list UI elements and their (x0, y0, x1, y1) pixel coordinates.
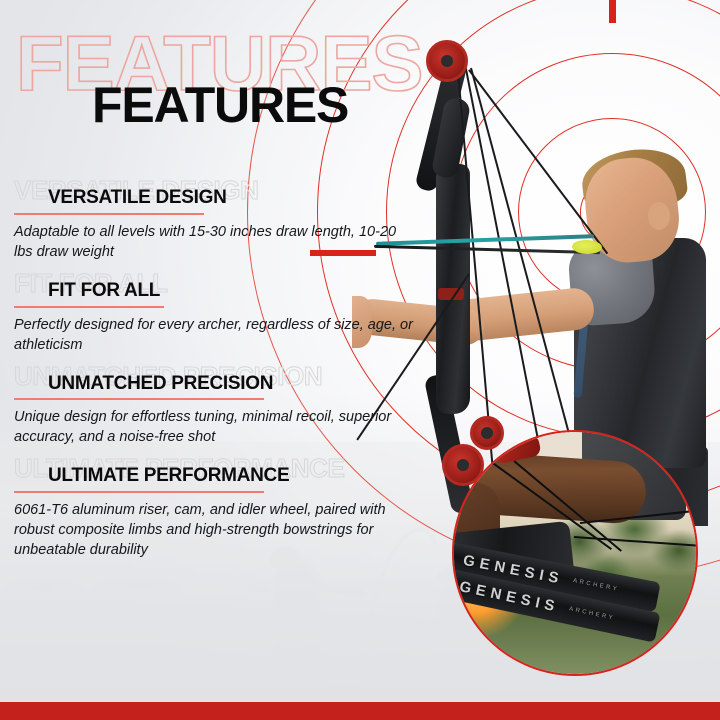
feature-body: 6061-T6 aluminum riser, cam, and idler w… (14, 500, 416, 560)
feature-list: VERSATILE DESIGN VERSATILE DESIGN Adapta… (0, 186, 430, 577)
feature-item-unmatched-precision: UNMATCHED PRECISION UNMATCHED PRECISION … (0, 372, 430, 448)
inset-closeup-photo: GENESIS ARCHERY GENESIS ARCHERY (452, 430, 698, 676)
feature-heading: ULTIMATE PERFORMANCE (48, 464, 289, 491)
bottom-accent-bar (0, 702, 720, 720)
target-tick-top (609, 0, 616, 23)
page-title-block: FEATURES FEATURES (0, 24, 560, 130)
feature-heading: UNMATCHED PRECISION (48, 372, 273, 399)
feature-heading: VERSATILE DESIGN (48, 186, 227, 213)
page-title: FEATURES (92, 80, 348, 130)
limb-brand-sub-label: ARCHERY (573, 578, 620, 593)
feature-body: Adaptable to all levels with 15-30 inche… (14, 222, 414, 262)
feature-heading: FIT FOR ALL (48, 279, 160, 306)
feature-underline (14, 306, 164, 308)
feature-underline (14, 398, 264, 400)
feature-item-ultimate-performance: ULTIMATE PERFORMANCE ULTIMATE PERFORMANC… (0, 464, 430, 560)
feature-underline (14, 491, 264, 493)
feature-item-fit-for-all: FIT FOR ALL FIT FOR ALL Perfectly design… (0, 279, 430, 355)
infographic-canvas: GENESIS ARCHERY GENESIS ARCHERY FEATURES… (0, 0, 720, 720)
archer-ear (648, 202, 670, 230)
feature-underline (14, 213, 204, 215)
feature-body: Perfectly designed for every archer, reg… (14, 315, 414, 355)
limb-brand-sub-label-2: ARCHERY (568, 606, 615, 622)
feature-body: Unique design for effortless tuning, min… (14, 407, 416, 447)
feature-item-versatile-design: VERSATILE DESIGN VERSATILE DESIGN Adapta… (0, 186, 430, 262)
